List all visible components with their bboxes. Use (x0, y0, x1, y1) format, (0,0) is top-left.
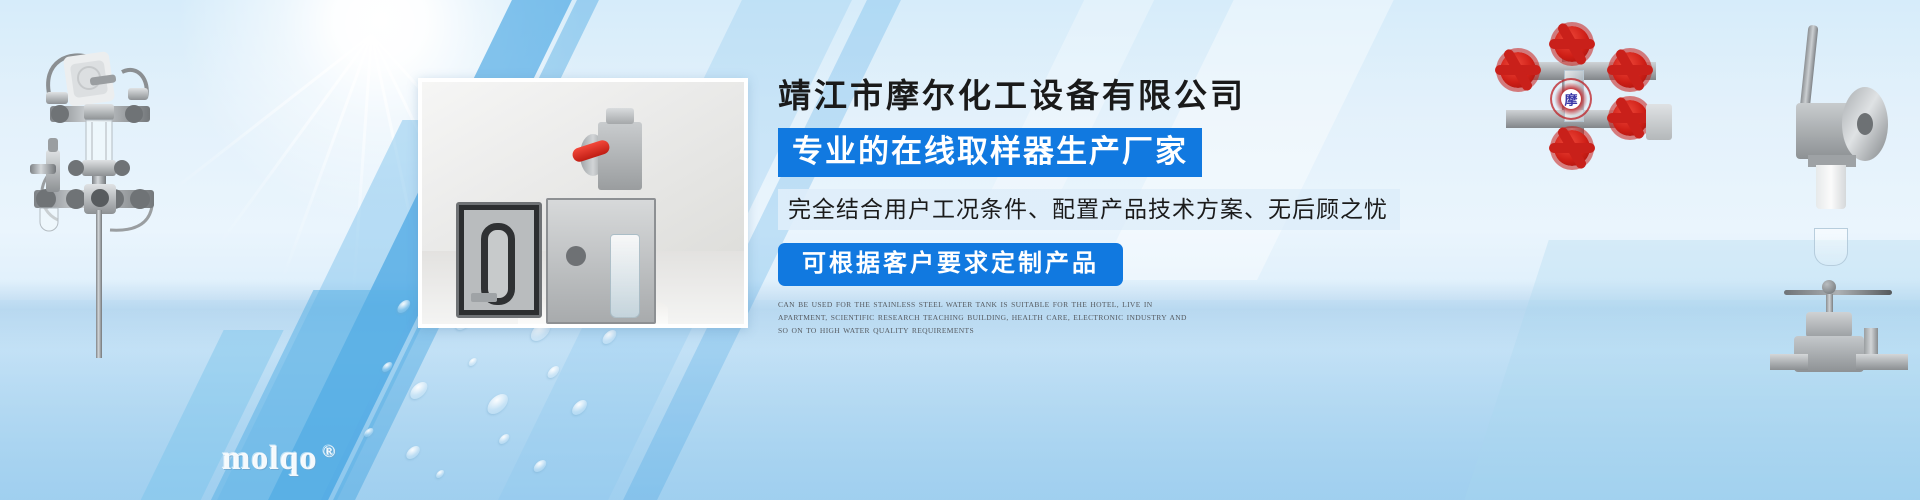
company-seal-icon: 摩 (1550, 78, 1592, 120)
lever-valve-graphic (1790, 25, 1910, 205)
promo-banner: 摩 靖江市摩尔化工设备有限公司 专业的在线取样器生产厂家 完全结合用户工况条件、… (0, 0, 1920, 500)
brand-watermark: molqo® (222, 440, 336, 478)
sampling-valve-assembly-graphic (10, 20, 220, 360)
sub-headline: 完全结合用户工况条件、配置产品技术方案、无后顾之忧 (778, 189, 1400, 230)
english-description: CAN BE USED FOR THE STAINLESS STEEL WATE… (778, 298, 1188, 337)
banner-text-block: 靖江市摩尔化工设备有限公司 专业的在线取样器生产厂家 完全结合用户工况条件、配置… (778, 74, 1418, 337)
product-photo (418, 78, 748, 328)
needle-valve-graphic (1778, 228, 1918, 388)
watermark-text: molqo (222, 440, 318, 477)
custom-product-badge: 可根据客户要求定制产品 (778, 243, 1123, 286)
headline-banner: 专业的在线取样器生产厂家 (778, 128, 1202, 177)
valve-manifold-graphic: 摩 (1496, 30, 1686, 150)
registered-mark-icon: ® (323, 442, 337, 461)
seal-character: 摩 (1564, 90, 1577, 109)
company-name: 靖江市摩尔化工设备有限公司 (778, 74, 1418, 120)
